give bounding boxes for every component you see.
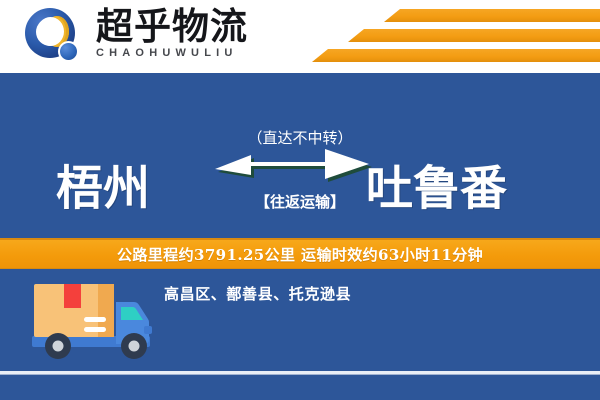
direct-service-note: （直达不中转） [0,127,600,148]
stripe-2 [348,29,600,42]
logistics-route-poster: 超乎物流 CHAOHUWULIU 梧州 吐鲁番 （直达不中转） 【往返运输】 公… [0,0,600,400]
double-headed-arrow-icon [215,149,375,187]
round-trip-note: 【往返运输】 [0,191,600,212]
logo-crescent-cutout [37,17,64,46]
poster-header: 超乎物流 CHAOHUWULIU [0,0,600,73]
route-band: 梧州 吐鲁番 （直达不中转） 【往返运输】 [0,73,600,238]
road-line-icon [0,371,600,374]
stripe-3 [312,49,600,62]
brand-name-cn: 超乎物流 [96,6,276,46]
logo-small-dot [58,41,79,62]
destination-districts: 高昌区、鄯善县、托克逊县 [164,283,351,304]
info-bar-text: 公路里程约3791.25公里 运输时效约63小时11分钟 [117,244,483,265]
brand-name-en: CHAOHUWULIU [96,47,276,59]
info-bar: 公路里程约3791.25公里 运输时效约63小时11分钟 [0,238,600,269]
speed-stripes-decoration [310,9,600,65]
circle-crescent-logo-icon [25,8,83,66]
stripe-1 [384,9,600,22]
brand-block: 超乎物流 CHAOHUWULIU [96,6,276,59]
delivery-truck-icon [26,274,172,372]
